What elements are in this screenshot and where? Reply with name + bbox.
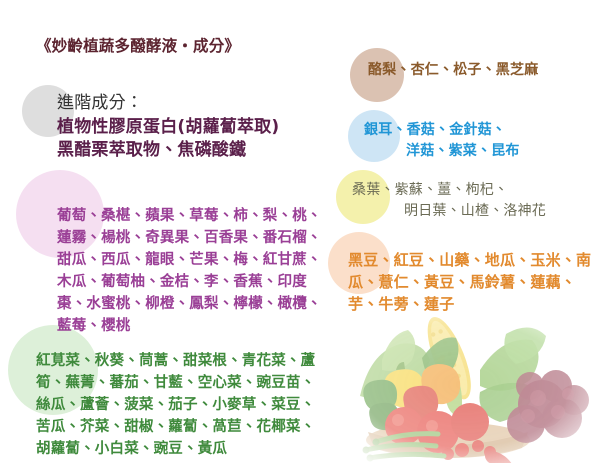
ingredient-group-grains: 黑豆、紅豆、山藥、地瓜、玉米、南瓜、薏仁、黃豆、馬鈴薯、蓮藕、芋、牛蒡、蓮子 [348,250,596,315]
herb-line-1: 桑葉、紫蘇、薑、枸杞、 [352,182,508,198]
ingredient-poster: 《妙齡植蔬多醱酵液・成分》 進階成分： 植物性膠原蛋白(胡蘿蔔萃取) 黑醋栗萃取… [0,0,600,463]
ingredient-group-fruits: 葡萄、桑椹、蘋果、草莓、柿、梨、桃、蓮霧、楊桃、奇異果、百香果、番石榴、甜瓜、西… [57,205,325,337]
mushroom-line-1: 銀耳、香菇、金針菇、 [364,122,506,138]
herb-line-2: 明日葉、山楂、洛神花 [352,201,546,222]
mushroom-line-2: 洋菇、紫菜、昆布 [364,141,520,162]
ingredient-group-herbs: 桑葉、紫蘇、薑、枸杞、明日葉、山楂、洛神花 [352,180,546,222]
ingredient-group-vegetables: 紅莧菜、秋葵、茼蒿、甜菜根、青花菜、蘆筍、蕪菁、蕃茄、甘藍、空心菜、豌豆苗、絲瓜… [36,350,328,460]
page-title: 《妙齡植蔬多醱酵液・成分》 [36,36,240,56]
vegetable-basket-photo [330,300,600,463]
advanced-ingredients-label: 進階成分： [57,92,143,114]
ingredient-group-nuts: 酪梨、杏仁、松子、黑芝麻 [368,60,538,80]
ingredient-group-mushrooms: 銀耳、香菇、金針菇、洋菇、紫菜、昆布 [364,120,520,162]
advanced-ingredients-body: 植物性膠原蛋白(胡蘿蔔萃取) 黑醋栗萃取物、焦磷酸鐵 [57,116,279,163]
